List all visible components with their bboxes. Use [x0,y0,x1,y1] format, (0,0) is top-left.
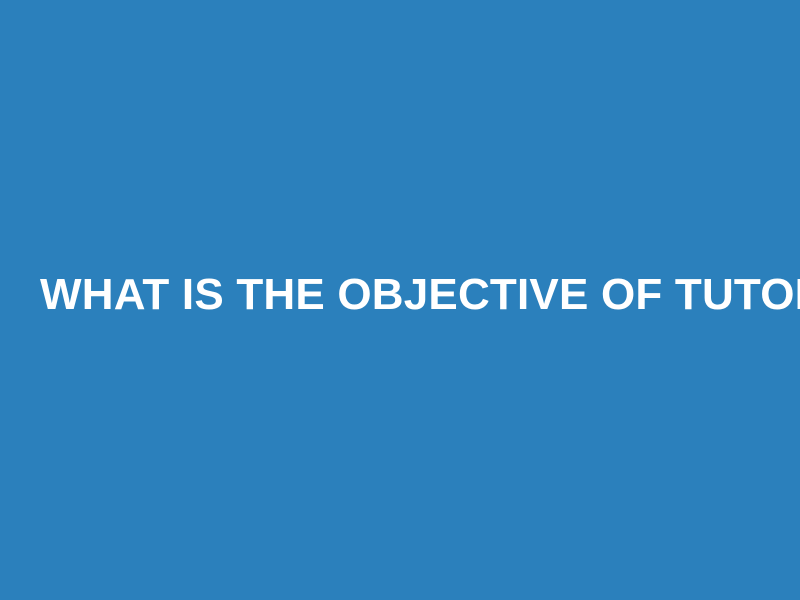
page-title: WHAT IS THE OBJECTIVE OF TUTORIAL? [40,270,760,319]
title-card: WHAT IS THE OBJECTIVE OF TUTORIAL? [0,0,800,600]
headline-container: WHAT IS THE OBJECTIVE OF TUTORIAL? [0,270,800,319]
